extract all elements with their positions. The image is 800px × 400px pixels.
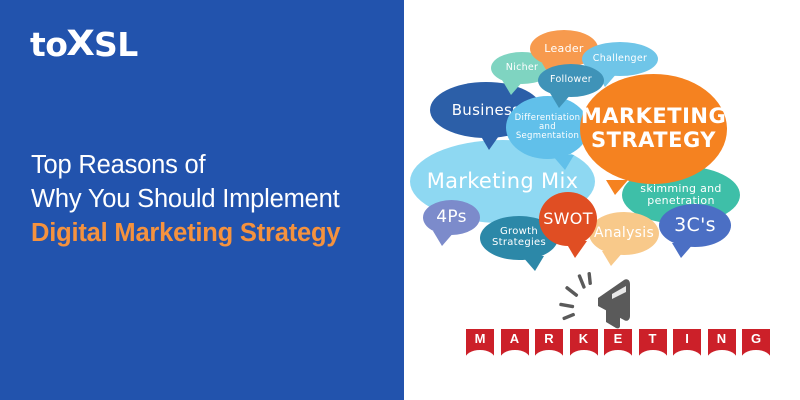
bubble-label: MARKETING STRATEGY [577,105,730,152]
marketing-flag-banner: M A R K E T I N G [466,329,770,359]
banner-letter: K [579,329,588,348]
headline-line-1: Top Reasons of [31,148,381,182]
bubble-label: Nicher [502,63,543,73]
headline-block: Top Reasons of Why You Should Implement … [31,148,381,250]
toxsl-logo[interactable]: toXSL [30,27,138,61]
headline-line-2: Why You Should Implement [31,182,381,216]
banner-flag: T [639,329,667,359]
banner-letter: N [717,329,726,348]
bubble-label: Challenger [589,54,651,64]
bubble-label: Analysis [590,226,658,241]
bubble-label: Follower [546,75,596,85]
banner-letter: M [475,329,486,348]
banner-letter: T [649,329,657,348]
banner-letter: I [685,329,689,348]
banner-flag: G [742,329,770,359]
speech-bubble-cloud: Marketing Mix Business Nicher Leader Fol… [404,0,800,290]
bubble-label: Marketing Mix [423,170,583,193]
right-illustration-panel: Marketing Mix Business Nicher Leader Fol… [404,0,800,400]
megaphone-icon [554,272,650,330]
banner-letter: G [751,329,761,348]
banner-flag: I [673,329,701,359]
bubble-analysis: Analysis [589,212,659,255]
bubble-4ps: 4Ps [423,200,480,235]
banner-flag: R [535,329,563,359]
bubble-label: SWOT [539,210,597,227]
bubble-label: Leader [540,43,588,55]
bubble-label: 4Ps [432,208,471,226]
banner-flag: M [466,329,494,359]
banner-letter: E [614,329,623,348]
bubble-follower: Follower [538,64,604,97]
banner-letter: A [510,329,519,348]
bubble-3cs: 3C's [659,204,731,247]
bubble-marketing-strategy: MARKETING STRATEGY [580,74,727,184]
logo-text-x: X [67,27,95,62]
banner-flag: A [501,329,529,359]
banner-letter: R [544,329,553,348]
bubble-label: skimming and penetration [622,183,740,207]
bubble-label: 3C's [670,215,720,236]
logo-text-sl: SL [94,28,138,61]
logo-text-to: to [30,28,67,61]
left-blue-panel: toXSL Top Reasons of Why You Should Impl… [0,0,404,400]
promo-banner: toXSL Top Reasons of Why You Should Impl… [0,0,800,400]
banner-flag: E [604,329,632,359]
banner-flag: K [570,329,598,359]
banner-flag: N [708,329,736,359]
headline-line-3-accent: Digital Marketing Strategy [31,216,381,250]
bubble-swot: SWOT [539,192,597,246]
